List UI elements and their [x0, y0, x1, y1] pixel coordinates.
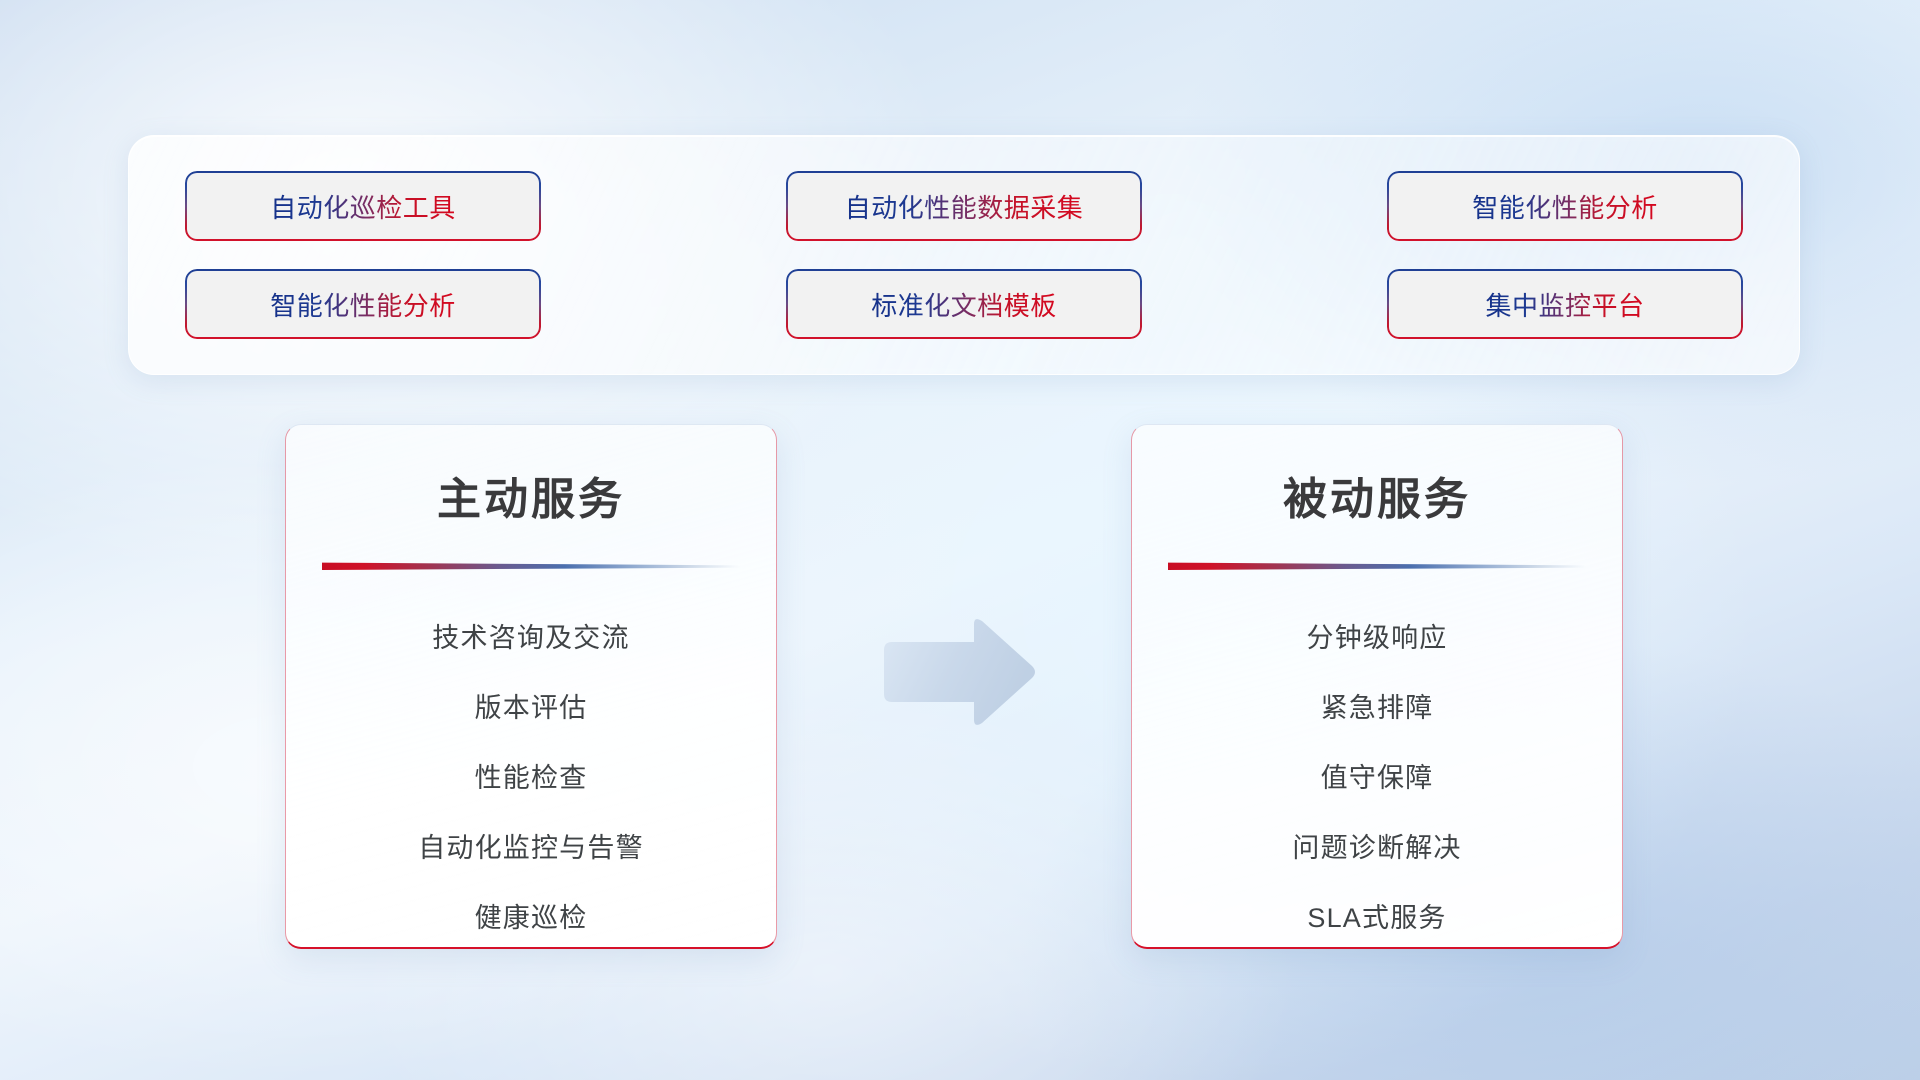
capability-pill-label: 智能化性能分析 — [1472, 188, 1658, 225]
capability-pill-standardized-document-template[interactable]: 标准化文档模板 — [786, 269, 1142, 339]
list-item: 值守保障 — [1321, 756, 1434, 795]
capability-pill-label: 标准化文档模板 — [871, 286, 1057, 323]
capability-pill-label: 自动化巡检工具 — [270, 188, 456, 225]
capability-pill-automated-inspection-tool[interactable]: 自动化巡检工具 — [185, 171, 541, 241]
service-card-passive: 被动服务 分钟级响应 紧急排障 值守保障 问题诊断解决 SLA式服务 — [1131, 424, 1623, 949]
capability-pill-centralized-monitoring-platform[interactable]: 集中监控平台 — [1387, 269, 1743, 339]
capability-pill-label: 集中监控平台 — [1485, 286, 1644, 323]
list-item: 技术咨询及交流 — [432, 616, 629, 655]
title-divider — [1168, 561, 1586, 570]
capability-pill-intelligent-performance-analysis-2[interactable]: 智能化性能分析 — [185, 269, 541, 339]
list-item: 分钟级响应 — [1307, 616, 1448, 655]
service-card-list: 技术咨询及交流 版本评估 性能检查 自动化监控与告警 健康巡检 — [286, 616, 776, 935]
arrow-right-icon — [878, 616, 1038, 728]
list-item: 自动化监控与告警 — [418, 826, 644, 865]
service-card-list: 分钟级响应 紧急排障 值守保障 问题诊断解决 SLA式服务 — [1132, 616, 1622, 935]
capability-pill-intelligent-performance-analysis-1[interactable]: 智能化性能分析 — [1387, 171, 1743, 241]
list-item: 问题诊断解决 — [1292, 826, 1461, 865]
list-item: 性能检查 — [475, 756, 588, 795]
service-card-title: 主动服务 — [286, 463, 776, 527]
list-item: 版本评估 — [475, 686, 588, 725]
list-item: 紧急排障 — [1321, 686, 1434, 725]
list-item: SLA式服务 — [1307, 896, 1446, 935]
service-card-active: 主动服务 技术咨询及交流 版本评估 性能检查 自动化监控与告警 健康巡检 — [285, 424, 777, 949]
service-card-title: 被动服务 — [1132, 463, 1622, 527]
title-divider — [322, 561, 740, 570]
capabilities-row-1: 自动化巡检工具 自动化性能数据采集 智能化性能分析 — [185, 171, 1743, 241]
capability-pill-automated-performance-data-collection[interactable]: 自动化性能数据采集 — [786, 171, 1142, 241]
list-item: 健康巡检 — [475, 896, 588, 935]
capabilities-row-2: 智能化性能分析 标准化文档模板 集中监控平台 — [185, 269, 1743, 339]
capabilities-panel: 自动化巡检工具 自动化性能数据采集 智能化性能分析 智能化性能分析 标准化文档模… — [128, 135, 1800, 375]
capability-pill-label: 智能化性能分析 — [270, 286, 456, 323]
capability-pill-label: 自动化性能数据采集 — [845, 188, 1084, 225]
